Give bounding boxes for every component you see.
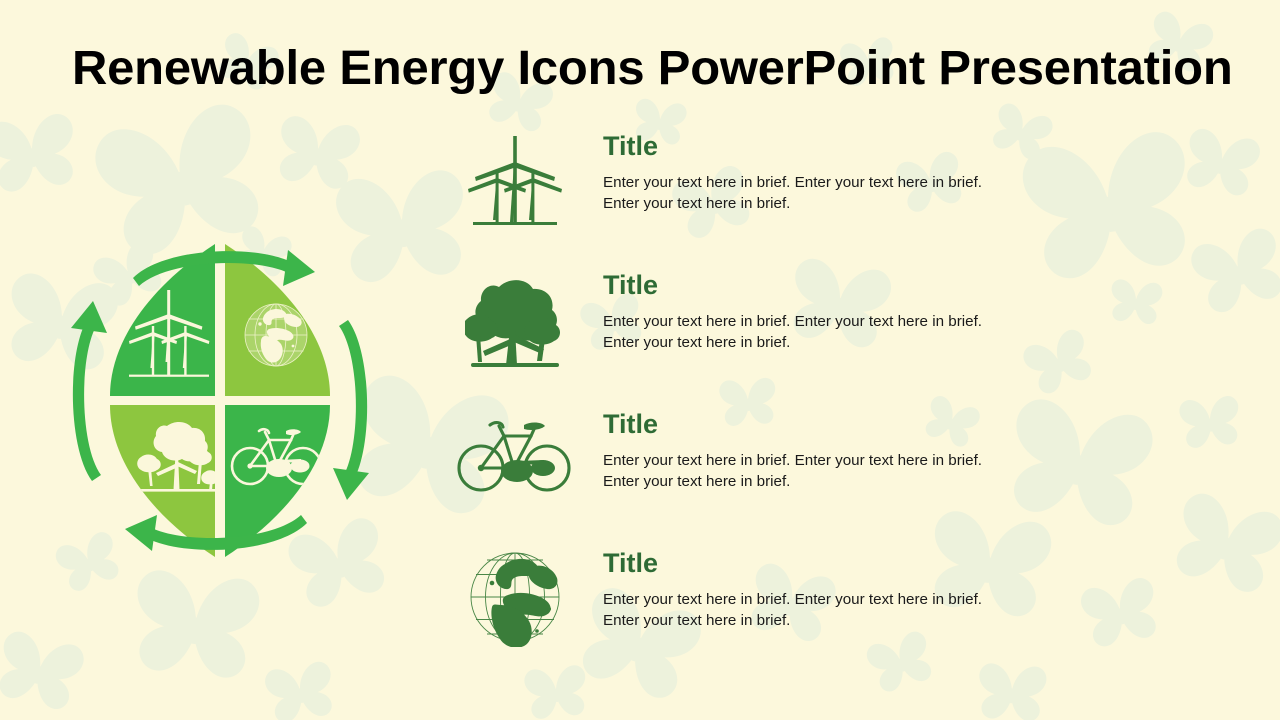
list-item-title: Title xyxy=(603,270,1035,300)
content-list: Title Enter your text here in brief. Ent… xyxy=(455,125,1035,675)
bicycle-icon xyxy=(455,403,575,513)
globe-icon xyxy=(455,542,575,652)
list-item-body: Enter your text here in brief. Enter you… xyxy=(603,450,1008,492)
cycle-arrow-right xyxy=(333,320,369,500)
slide-canvas: Renewable Energy Icons PowerPoint Presen… xyxy=(0,0,1280,720)
list-item-text: Title Enter your text here in brief. Ent… xyxy=(575,125,1035,214)
page-title: Renewable Energy Icons PowerPoint Presen… xyxy=(72,40,1276,102)
list-item-text: Title Enter your text here in brief. Ent… xyxy=(575,542,1035,631)
cycle-arrow-left xyxy=(71,301,107,481)
tree-icon xyxy=(455,264,575,374)
list-item-body: Enter your text here in brief. Enter you… xyxy=(603,172,1008,214)
list-item-title: Title xyxy=(603,409,1035,439)
list-item-title: Title xyxy=(603,131,1035,161)
list-item[interactable]: Title Enter your text here in brief. Ent… xyxy=(455,264,1035,384)
cycle-arrows xyxy=(71,250,369,551)
cycle-arrow-top xyxy=(133,250,315,286)
cycle-arrow-bottom xyxy=(125,515,307,551)
list-item-body: Enter your text here in brief. Enter you… xyxy=(603,311,1008,353)
list-item[interactable]: Title Enter your text here in brief. Ent… xyxy=(455,403,1035,523)
list-item-text: Title Enter your text here in brief. Ent… xyxy=(575,264,1035,353)
list-item-title: Title xyxy=(603,548,1035,578)
list-item-text: Title Enter your text here in brief. Ent… xyxy=(575,403,1035,492)
list-item-body: Enter your text here in brief. Enter you… xyxy=(603,589,1008,631)
list-item[interactable]: Title Enter your text here in brief. Ent… xyxy=(455,542,1035,662)
renewable-energy-cycle-diagram xyxy=(55,228,385,573)
globe-icon xyxy=(245,304,307,366)
leaf-quadrants xyxy=(110,244,330,557)
wind-turbine-icon xyxy=(455,125,575,235)
list-item[interactable]: Title Enter your text here in brief. Ent… xyxy=(455,125,1035,245)
